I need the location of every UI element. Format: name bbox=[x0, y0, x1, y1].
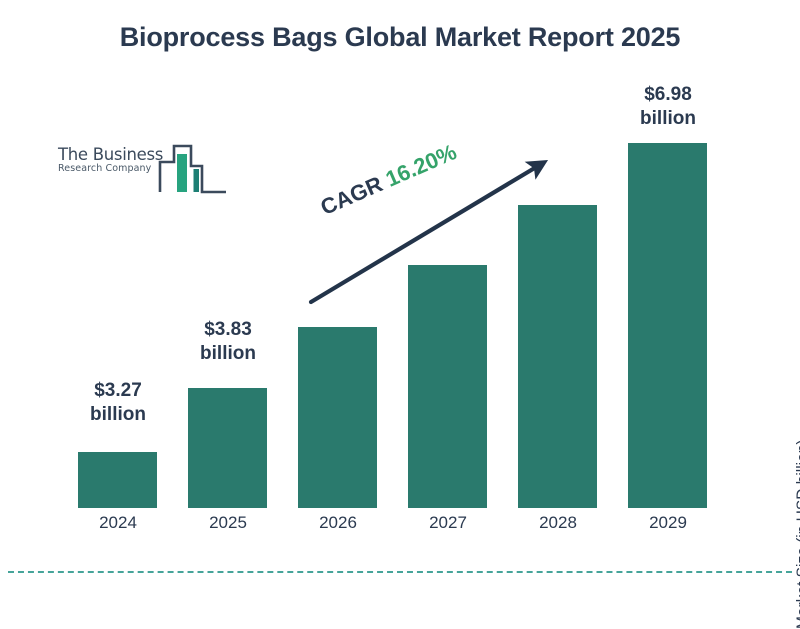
plot-area: $3.27 billion 2024 $3.83 billion 2025 20… bbox=[0, 0, 800, 600]
bar-2025 bbox=[188, 388, 267, 508]
bar-value-2025-amount: $3.83 bbox=[172, 318, 284, 342]
bar-value-2029-amount: $6.98 bbox=[612, 83, 724, 107]
bottom-divider bbox=[8, 571, 792, 573]
bar-value-2024: $3.27 billion bbox=[62, 379, 174, 428]
bar-2028 bbox=[518, 205, 597, 508]
x-tick-2028: 2028 bbox=[502, 513, 614, 533]
bar-2026 bbox=[298, 327, 377, 508]
bar-2029 bbox=[628, 143, 707, 508]
bar-value-2024-amount: $3.27 bbox=[62, 379, 174, 403]
y-axis-title: Market Size (in USD billion) bbox=[794, 440, 800, 629]
chart-container: Bioprocess Bags Global Market Report 202… bbox=[0, 0, 800, 600]
bar-value-2025: $3.83 billion bbox=[172, 318, 284, 367]
bar-value-2029-unit: billion bbox=[612, 107, 724, 131]
x-tick-2029: 2029 bbox=[612, 513, 724, 533]
bar-2024 bbox=[78, 452, 157, 508]
bar-value-2029: $6.98 billion bbox=[612, 83, 724, 132]
x-tick-2024: 2024 bbox=[62, 513, 174, 533]
x-tick-2025: 2025 bbox=[172, 513, 284, 533]
bar-value-2025-unit: billion bbox=[172, 342, 284, 366]
bar-value-2024-unit: billion bbox=[62, 403, 174, 427]
bar-2027 bbox=[408, 265, 487, 508]
x-tick-2026: 2026 bbox=[282, 513, 394, 533]
x-tick-2027: 2027 bbox=[392, 513, 504, 533]
